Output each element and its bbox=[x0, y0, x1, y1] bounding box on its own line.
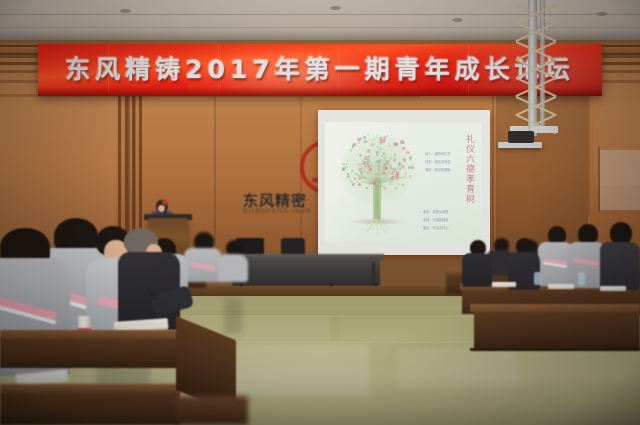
notebook bbox=[600, 286, 626, 291]
screen-note-bottom-2: 友悌：兄弟姐妹亲 bbox=[423, 218, 449, 223]
water-bottle bbox=[534, 272, 541, 285]
screen-note-right-2: 处事：诚信重承诺 bbox=[425, 160, 451, 165]
projection-screen: 礼仪六德孝育树 待人：谦恭有礼节 处事：诚信重承诺 修身：勤俭知廉耻 孝亲：感恩… bbox=[325, 122, 482, 242]
desk-edge bbox=[470, 348, 640, 351]
projector bbox=[508, 131, 534, 143]
desk-top bbox=[470, 304, 640, 312]
growth-tree-graphic bbox=[331, 130, 423, 235]
desk-row-left-foreground bbox=[0, 392, 180, 425]
stage-table bbox=[232, 258, 380, 286]
desk-row-right-front bbox=[474, 310, 640, 350]
foreground-desk bbox=[176, 396, 248, 425]
screen-note-bottom-3: 敬业：专注责任心 bbox=[423, 226, 449, 231]
wall-slats bbox=[118, 96, 144, 246]
screen-note-right-3: 修身：勤俭知廉耻 bbox=[425, 168, 451, 173]
company-name-english: DONGFENG INVE bbox=[243, 208, 312, 215]
microphone-icon bbox=[162, 200, 168, 205]
screen-title: 礼仪六德孝育树 bbox=[461, 134, 474, 204]
desk-row-left-front bbox=[0, 338, 196, 368]
conference-room-photo: 东风精密 DONGFENG INVE 东风精铸2017年第一期青年成长论坛 礼仪… bbox=[0, 0, 640, 425]
notebook bbox=[548, 284, 574, 289]
projector-lift bbox=[508, 0, 560, 140]
notebook bbox=[492, 282, 516, 287]
screen-note-bottom-1: 孝亲：感恩父母恩 bbox=[423, 210, 449, 215]
screen-note-right-1: 待人：谦恭有礼节 bbox=[425, 152, 451, 157]
water-bottle bbox=[578, 272, 585, 285]
